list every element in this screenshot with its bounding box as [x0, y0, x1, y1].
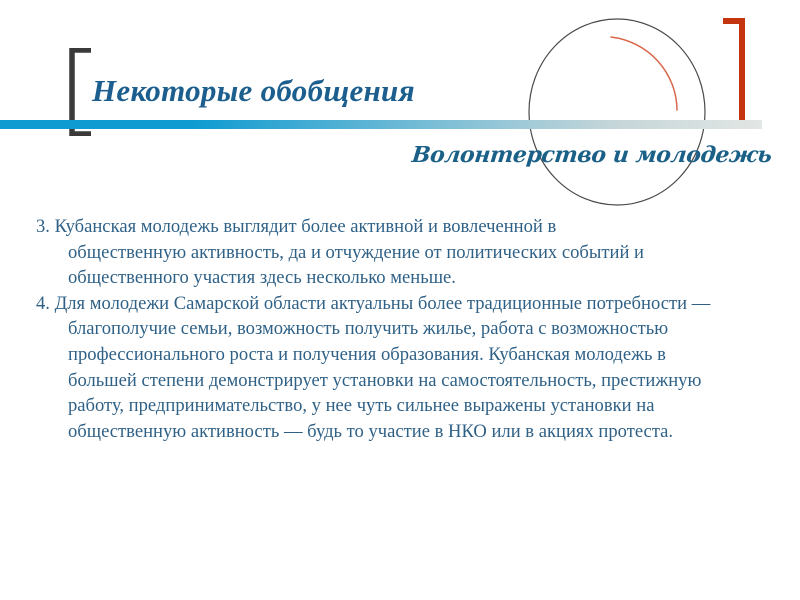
- ellipse-outline: [529, 19, 705, 205]
- slide-body: 3. Кубанская молодежь выглядит более акт…: [36, 214, 764, 444]
- page-title: Некоторые обобщения: [92, 73, 415, 109]
- body-paragraph: 3. Кубанская молодежь выглядит более акт…: [36, 214, 668, 291]
- horizontal-rule-solid: [0, 120, 192, 129]
- right-square-bracket-icon: [718, 18, 748, 128]
- slide: Некоторые обобщения Волонтерство и молод…: [0, 0, 800, 600]
- slide-subtitle: Волонтерство и молодежь: [411, 142, 773, 168]
- orange-arc-icon: [611, 37, 677, 110]
- left-square-bracket-icon: [68, 48, 94, 136]
- body-paragraph: 4. Для молодежи Самарской области актуал…: [36, 291, 728, 445]
- horizontal-rule-gradient: [192, 120, 762, 129]
